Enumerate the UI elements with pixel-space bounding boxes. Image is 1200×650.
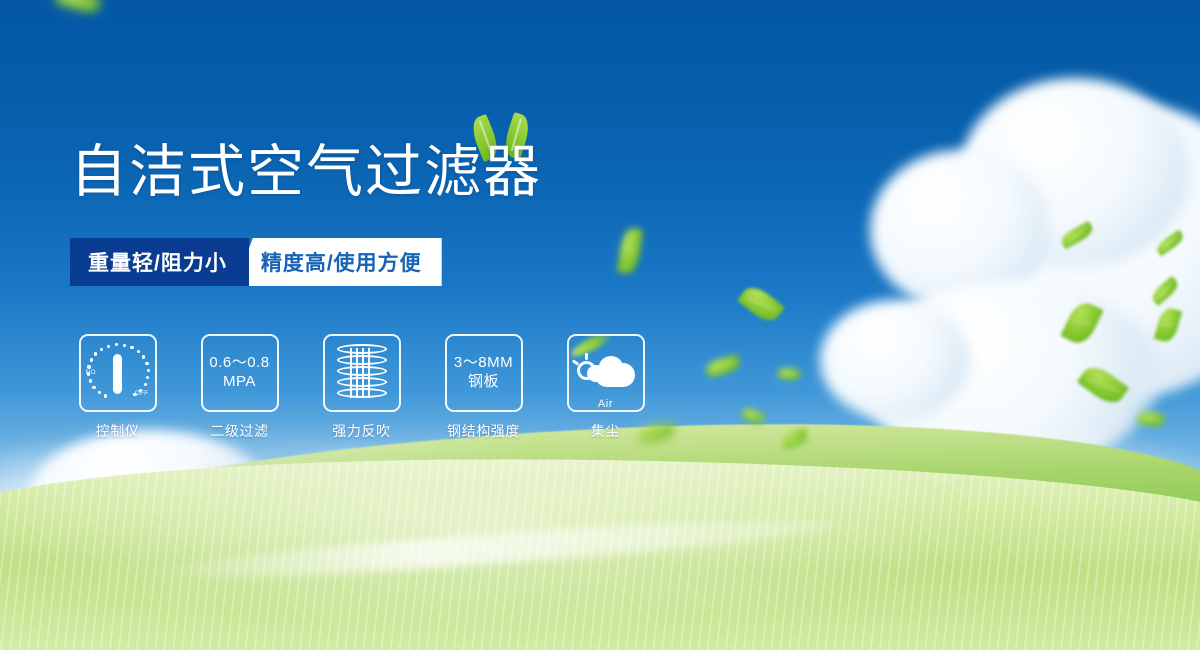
air-label: Air <box>575 398 637 410</box>
feature-icon-box: 0.6～0.8 MPA <box>201 334 279 412</box>
feature-label: 控制仪 <box>96 421 140 441</box>
feature-icon-box <box>323 334 401 412</box>
sun-ray <box>585 353 588 360</box>
feature-item-dust-collection[interactable]: Air 集尘 <box>558 334 653 441</box>
feature-label: 强力反吹 <box>332 421 390 441</box>
steel-thickness-line: 3～8MM <box>454 354 513 373</box>
feature-icon-box: Air <box>567 334 645 412</box>
feature-tag-strip: 重量轻/阻力小 精度高/使用方便 <box>70 238 442 286</box>
feature-item-strong-backflush[interactable]: 强力反吹 <box>314 334 409 441</box>
feature-label: 集尘 <box>591 421 620 441</box>
pressure-unit-line: MPA <box>209 373 269 392</box>
feature-item-control-instrument[interactable]: NO OFF 控制仪 <box>70 334 165 441</box>
feature-icon-box: NO OFF <box>79 334 157 412</box>
feature-label: 钢结构强度 <box>447 421 520 441</box>
gauge-label-off: OFF <box>135 390 149 397</box>
page-title: 自洁式空气过滤器 <box>70 143 542 203</box>
filter-coil-icon <box>337 344 387 402</box>
control-gauge-icon: NO OFF <box>87 342 149 404</box>
tag-primary: 重量轻/阻力小 <box>70 238 249 286</box>
cloud-puff-base <box>595 363 635 387</box>
steel-material-line: 钢板 <box>454 373 513 392</box>
product-hero-banner: 自洁式空气过滤器 重量轻/阻力小 精度高/使用方便 <box>0 0 1200 650</box>
gauge-needle <box>113 354 122 394</box>
cloud-air-icon: Air <box>575 350 637 396</box>
feature-icon-row: NO OFF 控制仪 0.6～0.8 MPA 二级过滤 <box>70 334 653 441</box>
feature-item-secondary-filtration[interactable]: 0.6～0.8 MPA 二级过滤 <box>192 334 287 441</box>
feature-item-steel-structure-strength[interactable]: 3～8MM 钢板 钢结构强度 <box>436 334 531 441</box>
feature-label: 二级过滤 <box>210 421 268 441</box>
sun-ray <box>571 359 578 365</box>
pressure-value-line: 0.6～0.8 <box>209 354 269 373</box>
feature-icon-box: 3～8MM 钢板 <box>445 334 523 412</box>
steel-plate-text-icon: 3～8MM 钢板 <box>454 354 513 392</box>
pressure-text-icon: 0.6～0.8 MPA <box>209 354 269 392</box>
tag-secondary: 精度高/使用方便 <box>235 238 442 286</box>
banner-content: 自洁式空气过滤器 重量轻/阻力小 精度高/使用方便 <box>0 0 1200 650</box>
gauge-label-no: NO <box>86 369 96 376</box>
